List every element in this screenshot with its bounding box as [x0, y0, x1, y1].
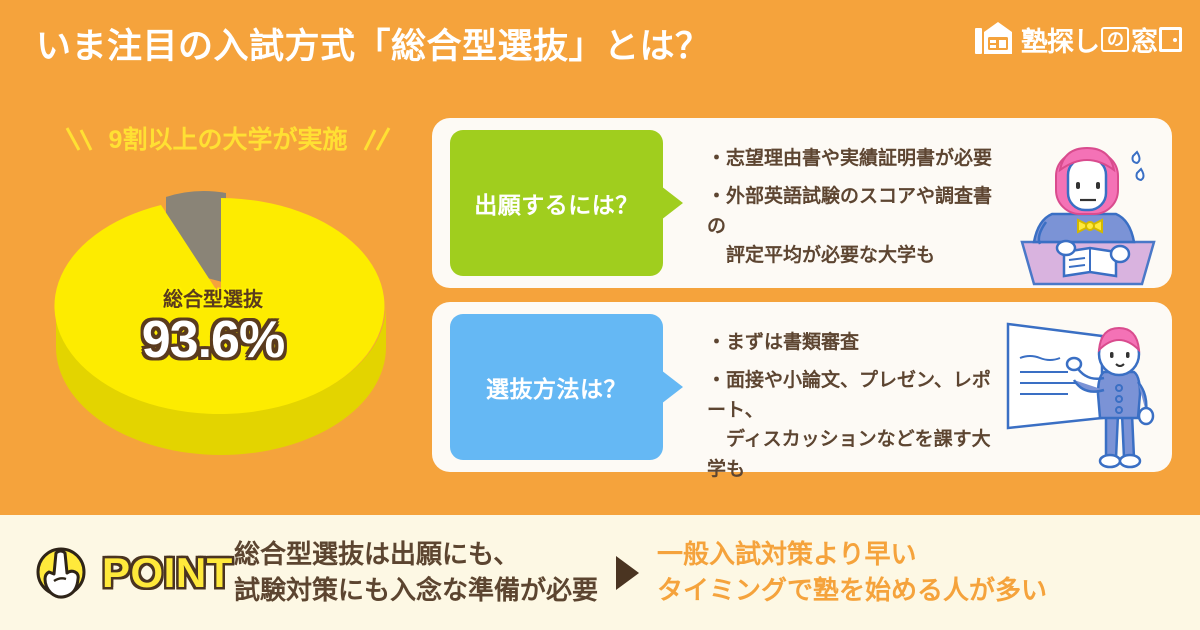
school-building-icon: [974, 18, 1014, 61]
slash-right-icon: [357, 126, 391, 155]
point-label: POINT: [102, 549, 233, 597]
logo-text: 塾探し の 窓: [1021, 20, 1182, 59]
pointing-hand-icon: [32, 541, 90, 604]
monitor-icon: の: [1101, 27, 1129, 52]
bullet-item: ・志望理由書や実績証明書が必要: [707, 144, 1004, 173]
point-bar: POINT 総合型選抜は出願にも、 試験対策にも入念な準備が必要 一般入試対策よ…: [0, 515, 1200, 630]
boy-presenting-board-icon: [1004, 302, 1172, 472]
point-left-text: 総合型選抜は出願にも、 試験対策にも入念な準備が必要: [234, 537, 598, 609]
pie-headline-text: 9割以上の大学が実施: [109, 126, 348, 154]
infographic-root: いま注目の入試方式「総合型選抜」とは？ 塾探し の 窓: [0, 0, 1200, 630]
logo-part2: 窓: [1131, 20, 1157, 59]
girl-writing-at-desk-icon: [1004, 118, 1172, 288]
triangle-right-icon: [616, 556, 639, 590]
card-selection-method: 選抜方法は？ ・まずは書類審査 ・面接や小論文、プレゼン、レポート、 ディスカッ…: [432, 302, 1172, 472]
pie-chart-svg: [48, 175, 408, 475]
bullets-selection-method: ・まずは書類審査 ・面接や小論文、プレゼン、レポート、 ディスカッションなどを課…: [663, 302, 1004, 472]
point-badge: POINT: [32, 541, 212, 604]
pie-chart: 総合型選抜 93.6%: [48, 175, 408, 475]
slash-left-icon: [65, 126, 99, 155]
bullets-application: ・志望理由書や実績証明書が必要 ・外部英語試験のスコアや調査書の 評定平均が必要…: [663, 118, 1004, 288]
point-right-text: 一般入試対策より早い タイミングで塾を始める人が多い: [657, 537, 1047, 609]
bullet-item: ・面接や小論文、プレゼン、レポート、 ディスカッションなどを課す大学も: [707, 366, 1004, 484]
tag-application: 出願するには？: [450, 130, 663, 276]
header: いま注目の入試方式「総合型選抜」とは？ 塾探し の 窓: [0, 0, 1200, 86]
pie-headline: 9割以上の大学が実施: [48, 120, 408, 156]
tag-selection-method: 選抜方法は？: [450, 314, 663, 460]
door-icon: [1159, 27, 1182, 52]
site-logo[interactable]: 塾探し の 窓: [974, 17, 1182, 61]
card-application: 出願するには？ ・志望理由書や実績証明書が必要 ・外部英語試験のスコアや調査書の…: [432, 118, 1172, 288]
bullet-item: ・外部英語試験のスコアや調査書の 評定平均が必要な大学も: [707, 182, 1004, 270]
logo-part1: 塾探し: [1021, 20, 1099, 59]
bullet-item: ・まずは書類審査: [707, 328, 1004, 357]
page-title: いま注目の入試方式「総合型選抜」とは？: [36, 18, 711, 69]
